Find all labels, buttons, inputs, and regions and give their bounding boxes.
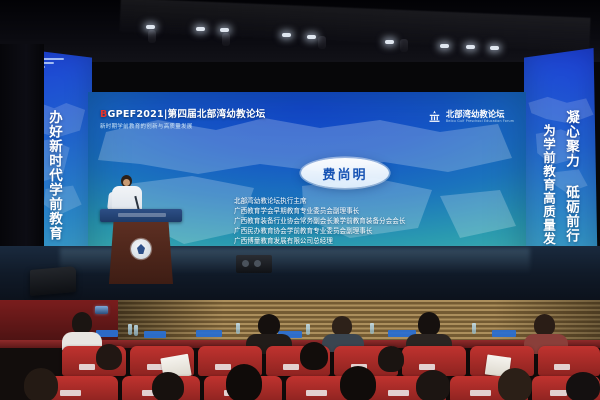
stage-floor-monitor — [30, 266, 76, 296]
forum-title-text: GPEF2021|第四届北部湾幼教论坛 — [108, 109, 266, 120]
water-bottle — [306, 324, 310, 335]
presenter-face — [123, 179, 130, 186]
theater-seat — [538, 346, 600, 376]
forum-brand-lockup: 北部湾幼教论坛 Beibu Gulf Preschool Education F… — [427, 109, 514, 124]
audience-member — [416, 370, 450, 400]
smartphone-screen — [95, 306, 108, 314]
left-banner-line1: 办好新时代学前教育 — [44, 110, 64, 241]
audience-member — [300, 342, 328, 370]
audience-member — [258, 314, 280, 336]
brand-name-en: Beibu Gulf Preschool Education Forum — [446, 120, 514, 123]
speaker-name-badge: 费尚明 — [301, 158, 389, 188]
seat-placard — [144, 331, 166, 338]
audience-member — [340, 366, 376, 400]
credential-line: 北部湾幼教论坛执行主席 — [234, 196, 405, 206]
water-bottle — [472, 323, 476, 334]
stage-spotlight — [220, 28, 229, 32]
speaker-name: 费尚明 — [322, 164, 367, 183]
audience-member — [24, 368, 58, 400]
podium-nameplate — [118, 213, 166, 217]
credential-line: 广西教育装备行业协会常务副会长兼学前教育装备分会会长 — [234, 216, 405, 226]
stage-spotlight — [282, 33, 291, 37]
audience-member — [226, 364, 262, 400]
light-rig — [148, 30, 156, 43]
seat-placard — [492, 330, 516, 337]
forum-title-prefix: B — [100, 109, 108, 120]
stage-spotlight — [146, 25, 155, 29]
credential-line: 广西教育学会早期教育专业委员会副理事长 — [234, 206, 405, 216]
right-banner-line1: 凝心聚力 砥砺前行 — [561, 110, 581, 243]
speaker-credentials: 北部湾幼教论坛执行主席 广西教育学会早期教育专业委员会副理事长 广西教育装备行业… — [234, 196, 405, 246]
water-bottle — [134, 325, 138, 336]
forum-brand-text: 北部湾幼教论坛 Beibu Gulf Preschool Education F… — [446, 110, 514, 123]
audience-area — [0, 300, 600, 400]
podium-emblem-icon — [131, 239, 151, 259]
credential-line: 广西博童教育发展有限公司总经理 — [234, 236, 405, 246]
forum-subtitle: 新时期学前教育的创新与高质量发展 — [100, 122, 265, 130]
forum-title: BGPEF2021|第四届北部湾幼教论坛 — [100, 106, 265, 120]
audience-member — [418, 312, 440, 336]
stage-spotlight — [196, 27, 205, 31]
credential-line: 广西民办教育协会学前教育专业委员会副理事长 — [234, 226, 405, 236]
audience-member — [498, 368, 532, 400]
seat-placard — [196, 330, 222, 337]
brand-name-cn: 北部湾幼教论坛 — [446, 110, 514, 118]
water-bottle — [128, 324, 132, 335]
audience-member — [332, 316, 352, 336]
audience-member — [72, 312, 92, 334]
audience-member — [534, 314, 555, 336]
conference-photo-scene: 办好新时代学前教育 实现幼有善育美好期盼 凝心聚力 砥砺前行 为学前教育高质量发… — [0, 0, 600, 400]
stage-spotlight — [307, 35, 316, 39]
water-bottle — [370, 323, 374, 334]
forum-emblem-icon — [427, 109, 442, 124]
screen-header: BGPEF2021|第四届北部湾幼教论坛 新时期学前教育的创新与高质量发展 — [100, 106, 265, 130]
audience-member — [378, 346, 404, 372]
audience-member — [152, 372, 184, 400]
stage-projector — [236, 255, 272, 273]
water-bottle — [236, 323, 240, 334]
audience-member — [96, 344, 122, 370]
audience-member — [566, 372, 600, 400]
